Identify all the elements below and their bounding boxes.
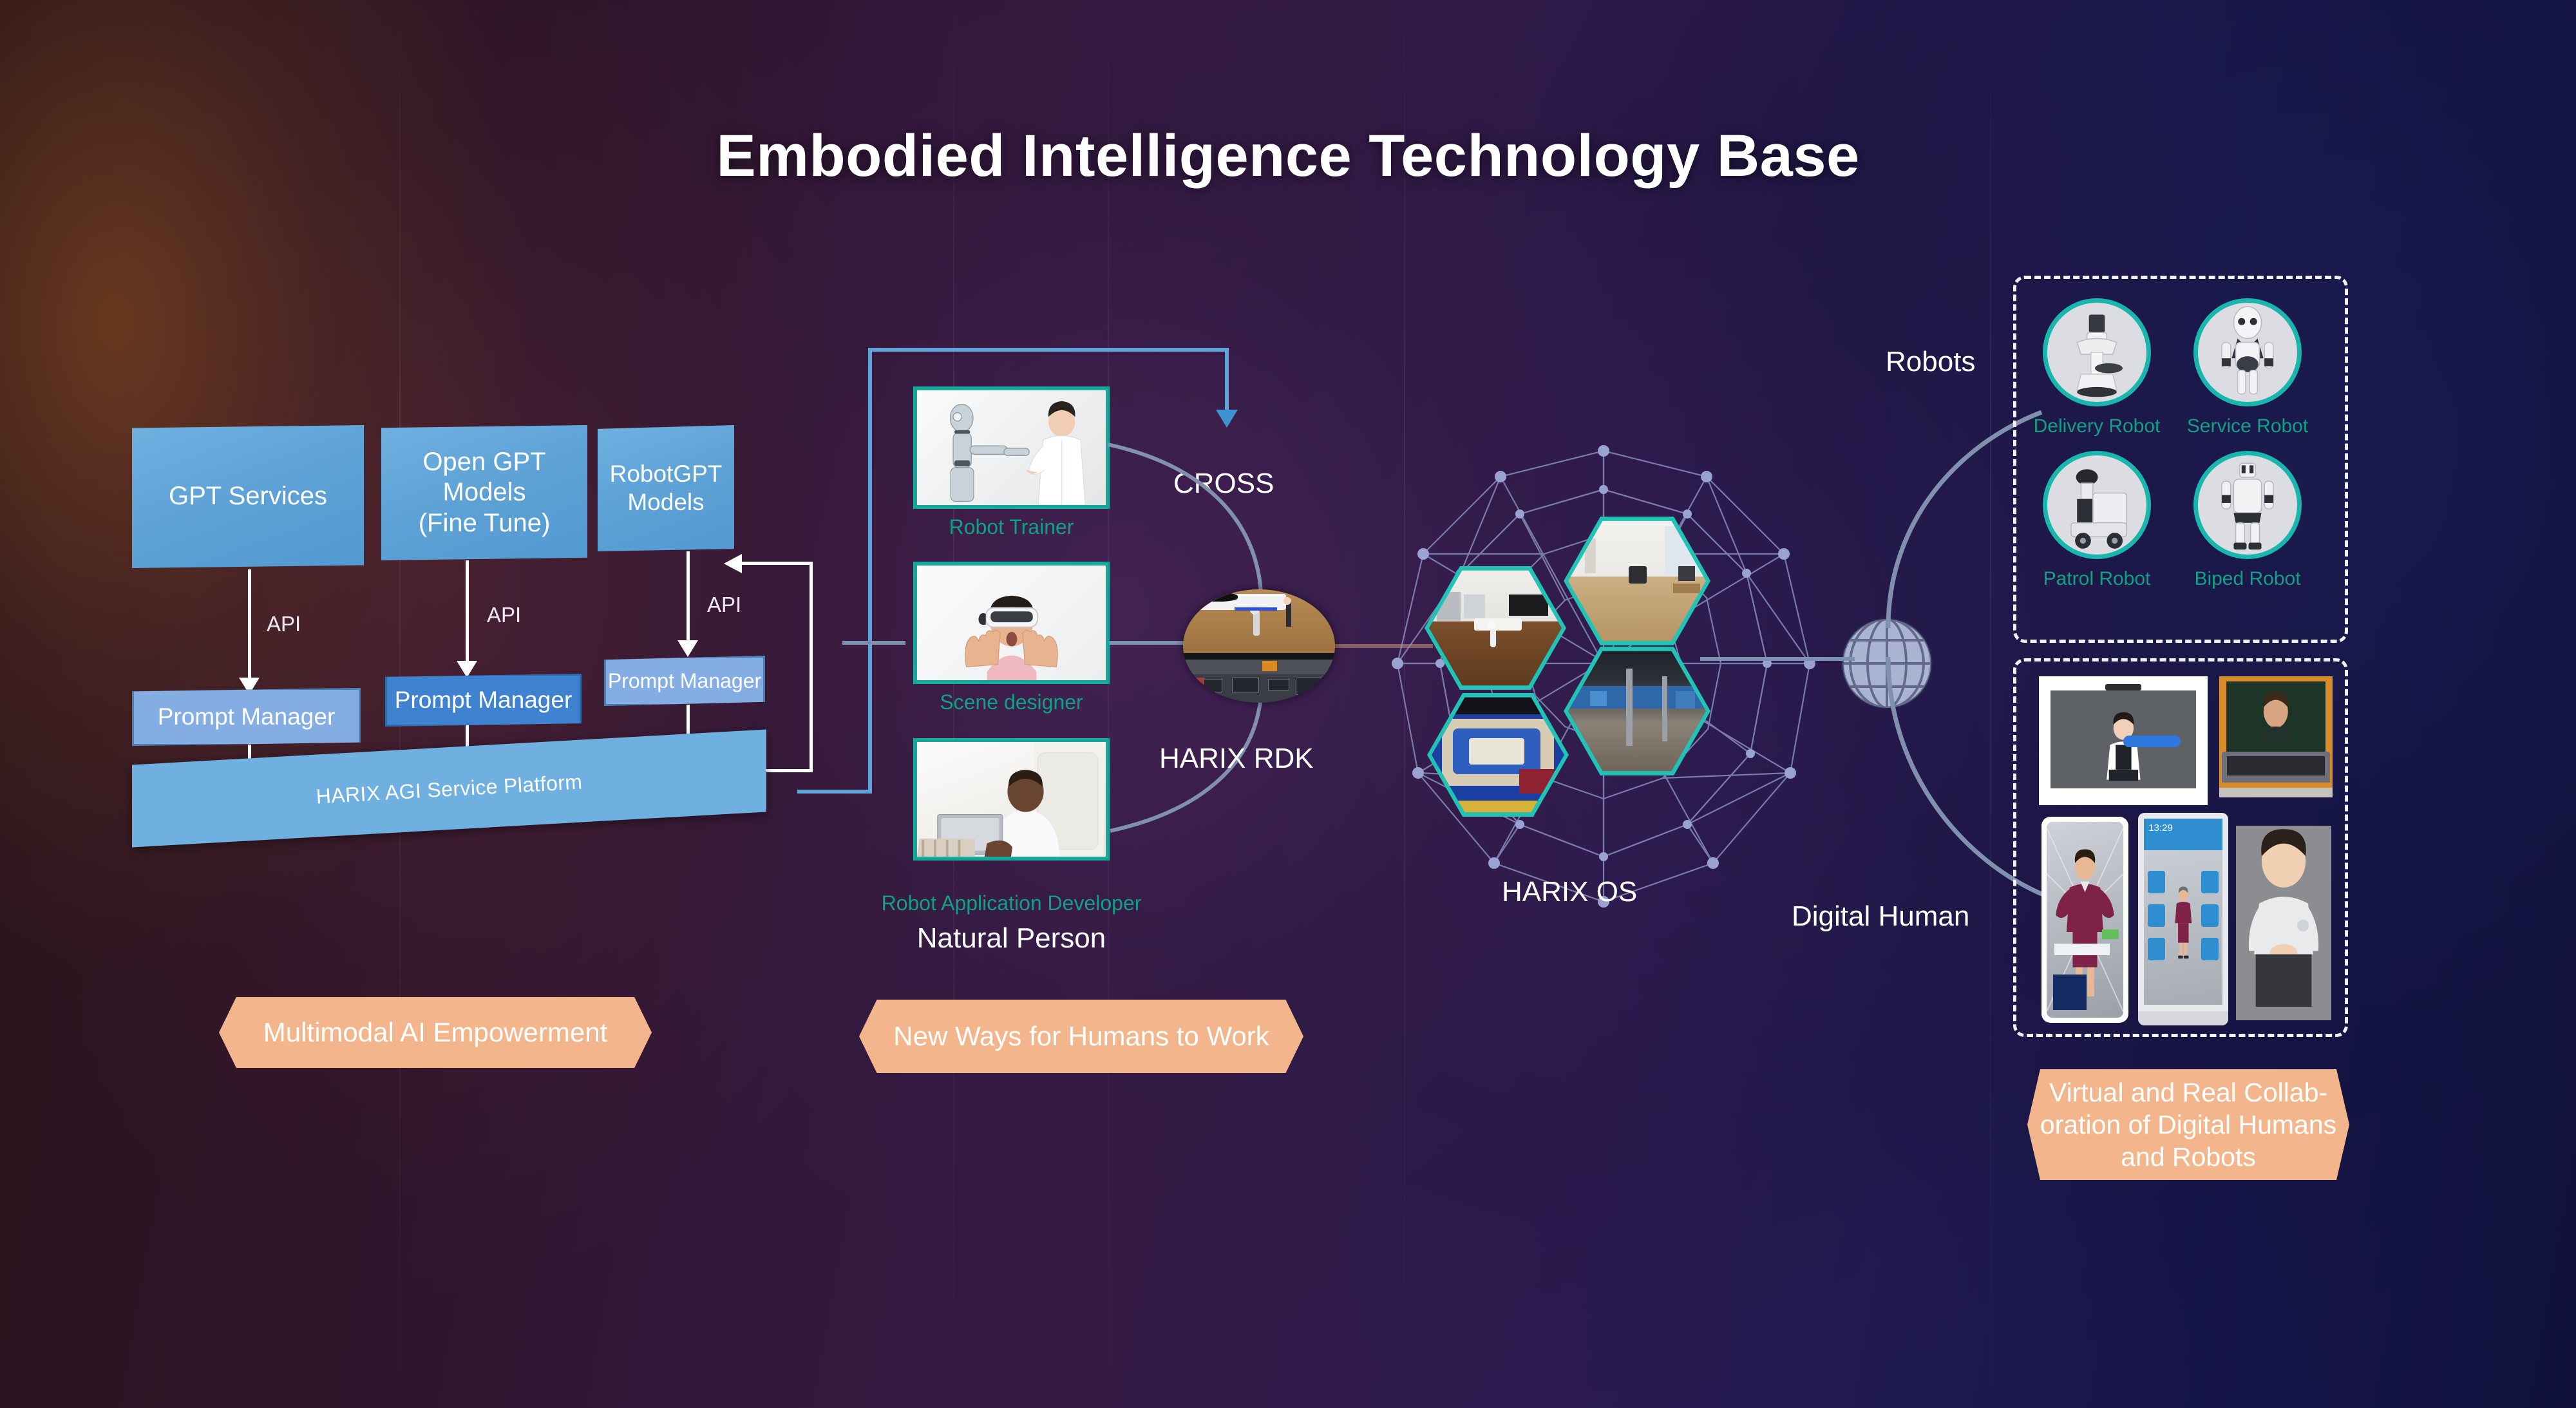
scene-designer-illustration xyxy=(917,566,1106,680)
card-label: Open GPT Models (Fine Tune) xyxy=(419,447,551,538)
prompt-manager-2[interactable]: Prompt Manager xyxy=(385,674,582,727)
arrow-head-api-2 xyxy=(457,661,477,678)
robot-label-delivery: Delivery Robot xyxy=(2020,415,2174,437)
photo-card-caption: Robot Application Developer xyxy=(836,891,1187,915)
banner-multimodal-ai[interactable]: Multimodal AI Empowerment xyxy=(219,997,652,1068)
banner-label: Multimodal AI Empowerment xyxy=(263,1016,608,1049)
delivery-robot-icon xyxy=(2047,303,2146,402)
robot-label-service: Service Robot xyxy=(2170,415,2325,437)
card-open-gpt-models[interactable]: Open GPT Models (Fine Tune) xyxy=(381,425,587,560)
natural-person-group-label: Natural Person xyxy=(836,922,1187,955)
robot-icon-patrol[interactable] xyxy=(2043,451,2151,559)
patrol-robot-icon xyxy=(2047,455,2146,555)
banner-virtual-real-collaboration[interactable]: Virtual and Real Collab- oration of Digi… xyxy=(2027,1069,2349,1180)
connector-bracket-top xyxy=(868,348,1229,352)
digital-human-standing[interactable] xyxy=(2236,826,2331,1020)
harix-rdk-preview[interactable] xyxy=(1183,589,1335,703)
card-label: GPT Services xyxy=(169,481,327,511)
digital-human-totem[interactable]: 13:29 xyxy=(2138,813,2228,1025)
arrow-shaft-api-1 xyxy=(248,569,251,683)
robot-icon-biped[interactable] xyxy=(2193,451,2302,559)
prompt-manager-3[interactable]: Prompt Manager xyxy=(604,656,765,706)
robot-trainer-illustration xyxy=(917,390,1106,505)
robot-icon-service[interactable] xyxy=(2193,298,2302,406)
digital-human-kiosk[interactable] xyxy=(2039,676,2208,805)
robots-group-label: Robots xyxy=(1886,346,1975,378)
feedback-arrow-head xyxy=(724,554,742,573)
feedback-line-top xyxy=(742,562,813,565)
prompt-manager-1[interactable]: Prompt Manager xyxy=(132,688,361,746)
robot-label-biped: Biped Robot xyxy=(2170,568,2325,590)
harix-rdk-label: HARIX RDK xyxy=(1159,743,1314,775)
prompt-manager-label: Prompt Manager xyxy=(395,687,573,714)
banner-label: New Ways for Humans to Work xyxy=(893,1020,1269,1052)
arrow-shaft-api-3 xyxy=(687,551,690,645)
prompt-manager-label: Prompt Manager xyxy=(158,703,336,730)
digital-human-phone[interactable] xyxy=(2041,817,2128,1023)
api-label-3: API xyxy=(707,593,741,617)
connector-tick-left xyxy=(842,641,905,645)
harix-os-label: HARIX OS xyxy=(1502,876,1637,908)
banner-label: Virtual and Real Collab- oration of Digi… xyxy=(2040,1076,2336,1173)
slide-canvas: Embodied Intelligence Technology Base GP… xyxy=(0,0,2576,1408)
hex-scene-image xyxy=(1568,649,1706,774)
digital-human-laptop[interactable] xyxy=(2219,676,2333,797)
feedback-line-vertical xyxy=(810,562,813,772)
connector-sphere-globe xyxy=(1700,657,1855,661)
biped-robot-icon xyxy=(2198,455,2297,555)
photo-card-robot-trainer[interactable] xyxy=(913,386,1110,509)
photo-card-robot-app-developer[interactable] xyxy=(913,738,1110,861)
hex-scene-image xyxy=(1432,695,1564,815)
digital-human-group-label: Digital Human xyxy=(1792,900,1969,933)
arrow-shaft-api-2 xyxy=(466,560,469,666)
hex-scene-image xyxy=(1429,568,1562,688)
card-robotgpt-models[interactable]: RobotGPT Models xyxy=(598,425,734,551)
developer-illustration xyxy=(917,742,1106,857)
banner-new-ways[interactable]: New Ways for Humans to Work xyxy=(859,1000,1303,1073)
api-label-1: API xyxy=(267,612,301,636)
card-gpt-services[interactable]: GPT Services xyxy=(132,425,364,568)
card-label: RobotGPT Models xyxy=(610,460,723,516)
robot-icon-delivery[interactable] xyxy=(2043,298,2151,406)
robot-label-patrol: Patrol Robot xyxy=(2020,568,2174,590)
photo-card-scene-designer[interactable] xyxy=(913,562,1110,684)
feedback-line-bottom xyxy=(759,769,813,772)
connector-bracket-left xyxy=(868,348,872,794)
hex-scene-image xyxy=(1568,518,1706,643)
arrow-head-api-3 xyxy=(677,640,698,657)
page-title: Embodied Intelligence Technology Base xyxy=(0,122,2576,190)
service-robot-icon xyxy=(2198,303,2297,402)
prompt-manager-label: Prompt Manager xyxy=(608,669,761,693)
connector-bracket-bottom xyxy=(797,790,872,794)
api-label-2: API xyxy=(487,603,521,627)
